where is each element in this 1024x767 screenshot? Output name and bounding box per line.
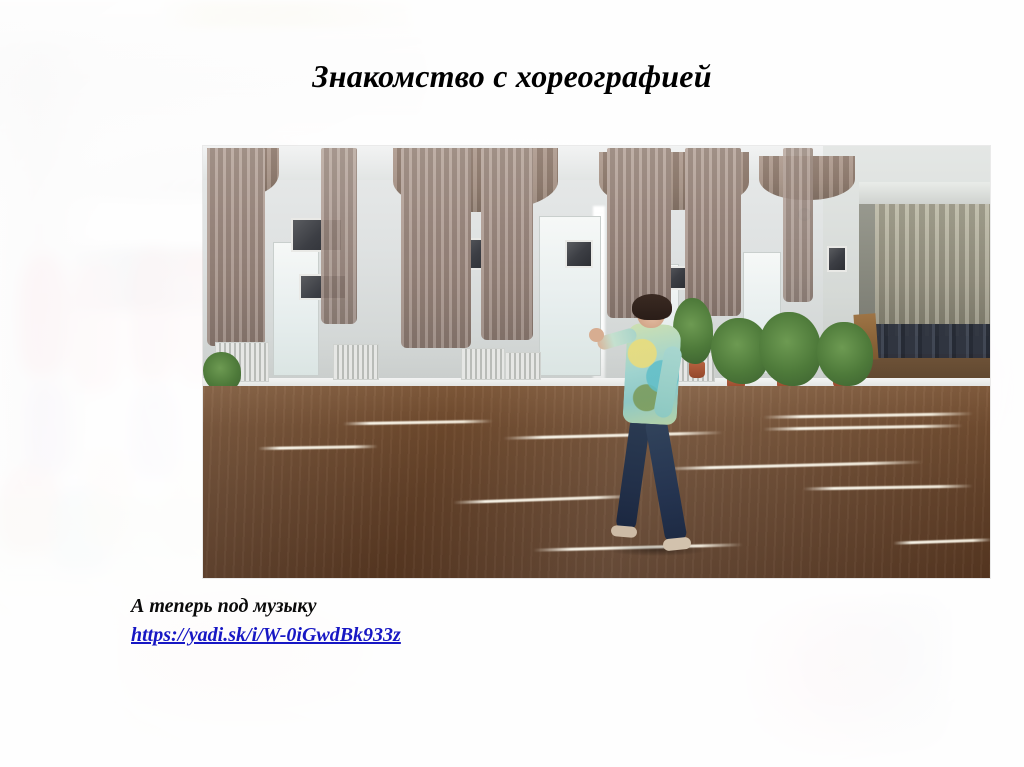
window-curtain xyxy=(481,148,533,340)
dancer-hand-left xyxy=(589,328,604,342)
window-curtain xyxy=(607,148,671,318)
dancer-leg-right xyxy=(644,417,687,543)
stage-ceiling xyxy=(859,182,990,204)
radiator xyxy=(461,348,505,380)
window-curtain xyxy=(207,148,265,346)
dancer-figure xyxy=(603,298,723,564)
window-curtain xyxy=(401,148,471,348)
window-curtain xyxy=(321,148,357,324)
stage-curtain xyxy=(875,204,990,336)
potted-plant xyxy=(759,312,821,386)
window-curtain xyxy=(685,148,741,316)
dance-hall-photo xyxy=(203,146,990,578)
hall-window xyxy=(273,242,319,376)
radiator xyxy=(505,352,541,380)
window-curtain xyxy=(783,148,813,302)
dancer-shoe-left xyxy=(611,525,638,538)
potted-plant xyxy=(817,322,873,386)
caption-text: А теперь под музыку xyxy=(131,594,401,619)
presentation-slide: Знакомство с хореографией xyxy=(0,0,1024,767)
stage-chairs xyxy=(871,324,990,358)
dancer-hair xyxy=(632,294,672,320)
radiator xyxy=(333,344,379,380)
slide-title: Знакомство с хореографией xyxy=(0,58,1024,95)
dancer-leg-left xyxy=(615,417,650,531)
caption-block: А теперь под музыку https://yadi.sk/i/W-… xyxy=(131,594,401,648)
music-link[interactable]: https://yadi.sk/i/W-0iGwdBk933z xyxy=(131,623,401,648)
dancer-shadow xyxy=(607,544,707,556)
wall-painting xyxy=(827,246,847,272)
wall-painting xyxy=(565,240,593,268)
